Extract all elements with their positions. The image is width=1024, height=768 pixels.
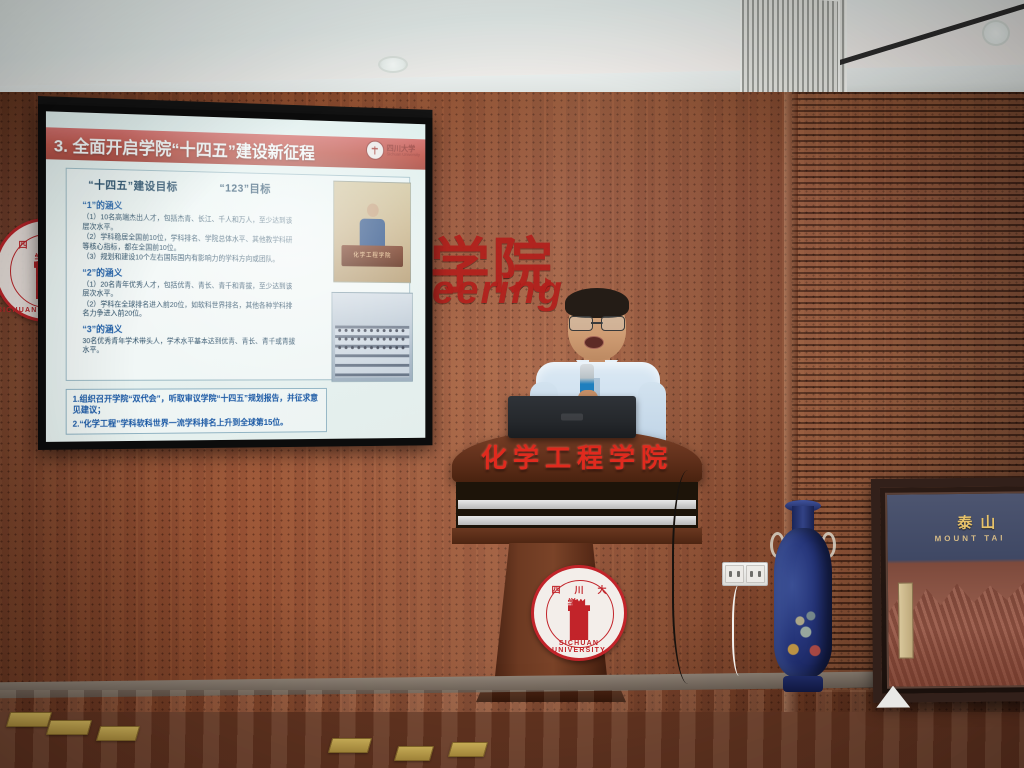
podium-trim-bar <box>458 516 696 525</box>
stage-floor <box>0 690 1024 768</box>
laptop <box>508 396 636 438</box>
photo-podium-caption: 化学工程学院 <box>342 245 403 267</box>
podium-shelf <box>452 528 702 544</box>
slide-university-logo: 四川大学 Sichuan University <box>366 140 420 161</box>
floor-outlet-cover <box>96 726 140 741</box>
socket-outlet-right[interactable] <box>746 565 765 583</box>
air-vent-icon <box>740 0 840 101</box>
artwork-stand <box>876 685 910 707</box>
slide-note-item: 1.组织召开学院“双代会”，听取审议学院“十四五”规划报告，并征求意见建议； <box>73 393 321 417</box>
slide-bullet: （3）规划和建设10个左右国际国内有影响力的学科方向或团队。 <box>82 252 296 264</box>
slide-bullet: （2）学科稳居全国前10位，学科排名、学院总体水平、其他教学科研等核心指标，都在… <box>82 232 296 254</box>
floor-outlet-cover <box>46 720 92 735</box>
slide-heading-2: “123”目标 <box>219 180 270 197</box>
downlight-icon <box>378 56 408 73</box>
artwork-title-en: MOUNT TAI <box>935 533 1006 543</box>
podium-sign-text: 化学工程学院 <box>452 438 702 475</box>
photo-person-head <box>367 203 379 217</box>
eyeglasses-icon <box>569 316 625 329</box>
artwork-canvas: 泰山 MOUNT TAI <box>885 491 1024 688</box>
slide-heading-1: “十四五”建设目标 <box>88 176 177 194</box>
lecture-hall-photo: 四川大学 1896 SICHUAN UNIVERSITY 学院 eering 3… <box>0 0 1024 768</box>
vase-body <box>774 528 832 678</box>
socket-outlet-left[interactable] <box>725 565 744 583</box>
slide-note-item: 2.“化学工程”学科软科世界一流学科排名上升到全球第15位。 <box>73 416 321 429</box>
floor-outlet-cover <box>328 738 372 753</box>
slide-title-text: 3. 全面开启学院“十四五”建设新征程 <box>54 131 315 163</box>
slide-logo-name-en: Sichuan University <box>387 152 420 157</box>
projection-screen: 3. 全面开启学院“十四五”建设新征程 四川大学 Sichuan Univers… <box>38 104 432 450</box>
laptop-lid-logo <box>561 414 583 421</box>
downlight-icon <box>982 20 1010 46</box>
slide-bullet: 30名优秀青年学术带头人，学术水平基本达到优青、青长、青千或青拔水平。 <box>82 336 296 355</box>
floor-outlet-cover <box>448 742 488 757</box>
floor-outlet-cover <box>6 712 52 727</box>
podium-cable <box>672 470 712 684</box>
floor-outlet-cover <box>394 746 434 761</box>
vase-floral-motif <box>784 606 826 668</box>
emblem-name-en: SICHUAN UNIVERSITY <box>534 640 624 654</box>
artwork-title-cn: 泰山 <box>957 512 1003 533</box>
slide-bullet: （1）10名高端杰出人才，包括杰青、长江、千人和万人，至少达到该层次水平。 <box>82 212 296 235</box>
wall-power-socket[interactable] <box>722 562 768 586</box>
vase-foot <box>783 676 823 692</box>
artwork-side-label <box>898 582 914 658</box>
slide-note-box: 1.组织召开学院“双代会”，听取审议学院“十四五”规划报告，并征求意见建议； 2… <box>66 388 327 435</box>
slide-bullet: （1）20名青年优秀人才，包括优青、青长、青千和青拔，至少达到该层次水平。 <box>82 279 296 300</box>
speaker-hair <box>565 288 629 318</box>
power-cable <box>732 584 750 676</box>
photo-audience-heads <box>337 327 408 352</box>
framed-relief-artwork: 泰山 MOUNT TAI <box>871 477 1024 703</box>
decorative-vase <box>772 498 834 692</box>
photo-podium: 化学工程学院 <box>342 245 403 267</box>
slide-photo-speaker: 化学工程学院 <box>333 181 411 284</box>
slide-bullet: （2）学科在全球排名进入前20位，如软科世界排名，其他各种学科排名力争进入前20… <box>82 299 296 319</box>
slide-photo-audience <box>331 292 412 382</box>
speaker-mouth <box>584 336 604 349</box>
projected-slide: 3. 全面开启学院“十四五”建设新征程 四川大学 Sichuan Univers… <box>46 111 425 442</box>
podium-university-emblem: 四川大学 1896 SICHUAN UNIVERSITY <box>531 565 627 661</box>
photo-person <box>360 203 385 249</box>
emblem-torch-icon <box>366 140 384 160</box>
podium-trim-bar <box>458 500 696 509</box>
